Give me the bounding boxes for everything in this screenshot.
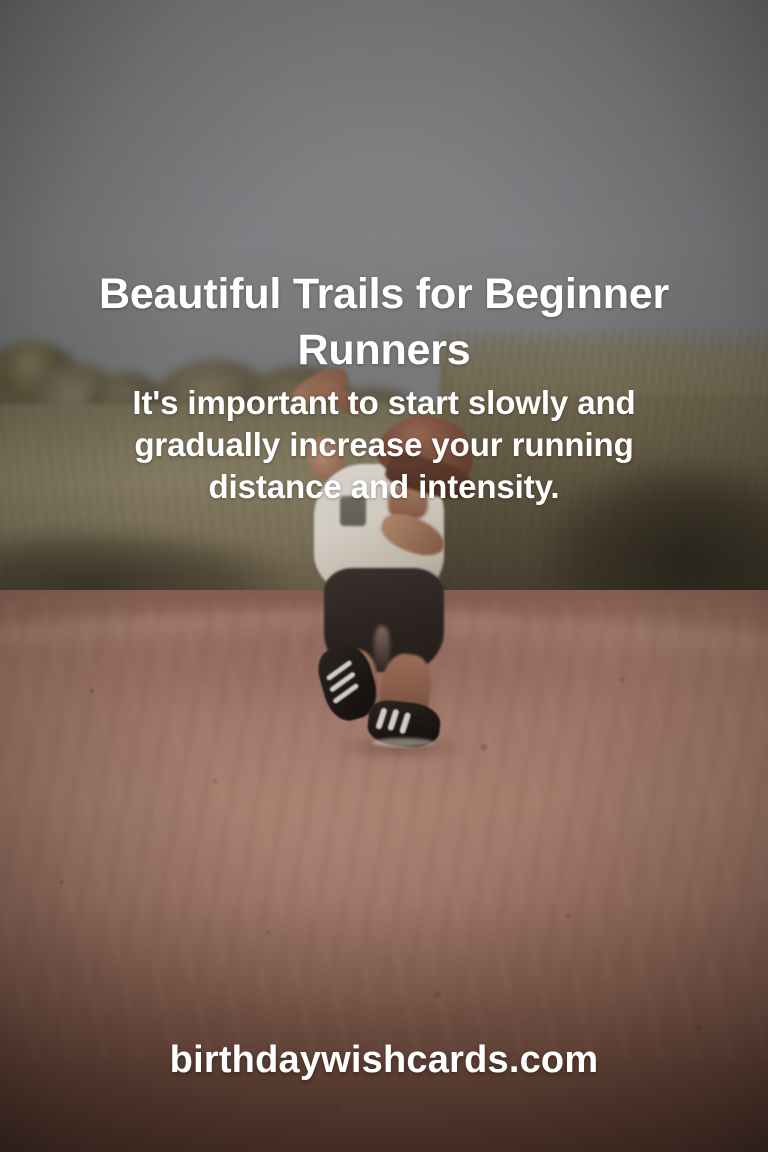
- headline-block: Beautiful Trails for Beginner Runners It…: [0, 266, 768, 508]
- text-overlay: Beautiful Trails for Beginner Runners It…: [0, 0, 768, 1152]
- card-headline: Beautiful Trails for Beginner Runners: [40, 266, 728, 378]
- card-subheadline: It's important to start slowly and gradu…: [40, 382, 728, 508]
- quote-card: Beautiful Trails for Beginner Runners It…: [0, 0, 768, 1152]
- site-watermark: birthdaywishcards.com: [0, 1036, 768, 1084]
